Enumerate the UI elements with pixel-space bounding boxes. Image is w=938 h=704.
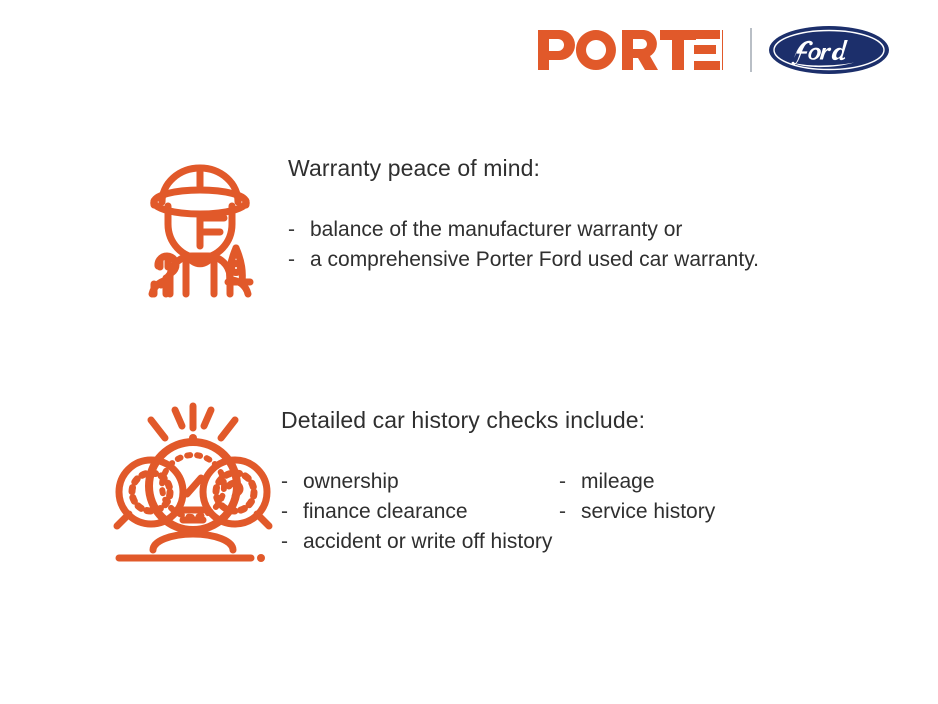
history-checks-heading: Detailed car history checks include: xyxy=(281,406,715,435)
warranty-heading: Warranty peace of mind: xyxy=(288,154,759,183)
history-checks-text: Detailed car history checks include: - o… xyxy=(281,392,715,557)
bullet-dash: - xyxy=(288,215,310,245)
brand-logo-bar xyxy=(538,24,890,76)
list-item: - a comprehensive Porter Ford used car w… xyxy=(288,245,759,275)
history-checks-bullet-grid: - ownership - mileage - finance clearanc… xyxy=(281,467,715,557)
mechanic-with-tools-icon xyxy=(112,140,288,299)
list-item: - balance of the manufacturer warranty o… xyxy=(288,215,759,245)
bullet-dash: - xyxy=(559,497,581,527)
list-item: - mileage xyxy=(559,467,715,497)
bullet-dash: - xyxy=(281,527,303,557)
ford-oval-logo xyxy=(768,25,890,75)
list-item-label: mileage xyxy=(581,467,655,497)
porter-wordmark xyxy=(538,28,734,72)
list-item: - finance clearance xyxy=(281,497,559,527)
warranty-block: Warranty peace of mind: - balance of the… xyxy=(112,140,759,299)
bullet-dash: - xyxy=(288,245,310,275)
warranty-text: Warranty peace of mind: - balance of the… xyxy=(288,140,759,275)
bullet-dash: - xyxy=(281,497,303,527)
list-item: - accident or write off history xyxy=(281,527,715,557)
list-item-label: ownership xyxy=(303,467,399,497)
history-checks-block: Detailed car history checks include: - o… xyxy=(105,392,715,564)
list-item-label: a comprehensive Porter Ford used car war… xyxy=(310,245,759,275)
slide-canvas: Warranty peace of mind: - balance of the… xyxy=(0,0,938,704)
list-item-label: service history xyxy=(581,497,715,527)
list-item: - ownership xyxy=(281,467,559,497)
bullet-dash: - xyxy=(281,467,303,497)
warranty-bullet-list: - balance of the manufacturer warranty o… xyxy=(288,215,759,275)
list-item: - service history xyxy=(559,497,715,527)
list-item-label: accident or write off history xyxy=(303,527,552,557)
list-item-label: finance clearance xyxy=(303,497,468,527)
bullet-dash: - xyxy=(559,467,581,497)
car-dashboard-gauges-icon xyxy=(105,392,281,564)
list-item-label: balance of the manufacturer warranty or xyxy=(310,215,682,245)
logo-divider xyxy=(750,28,752,72)
